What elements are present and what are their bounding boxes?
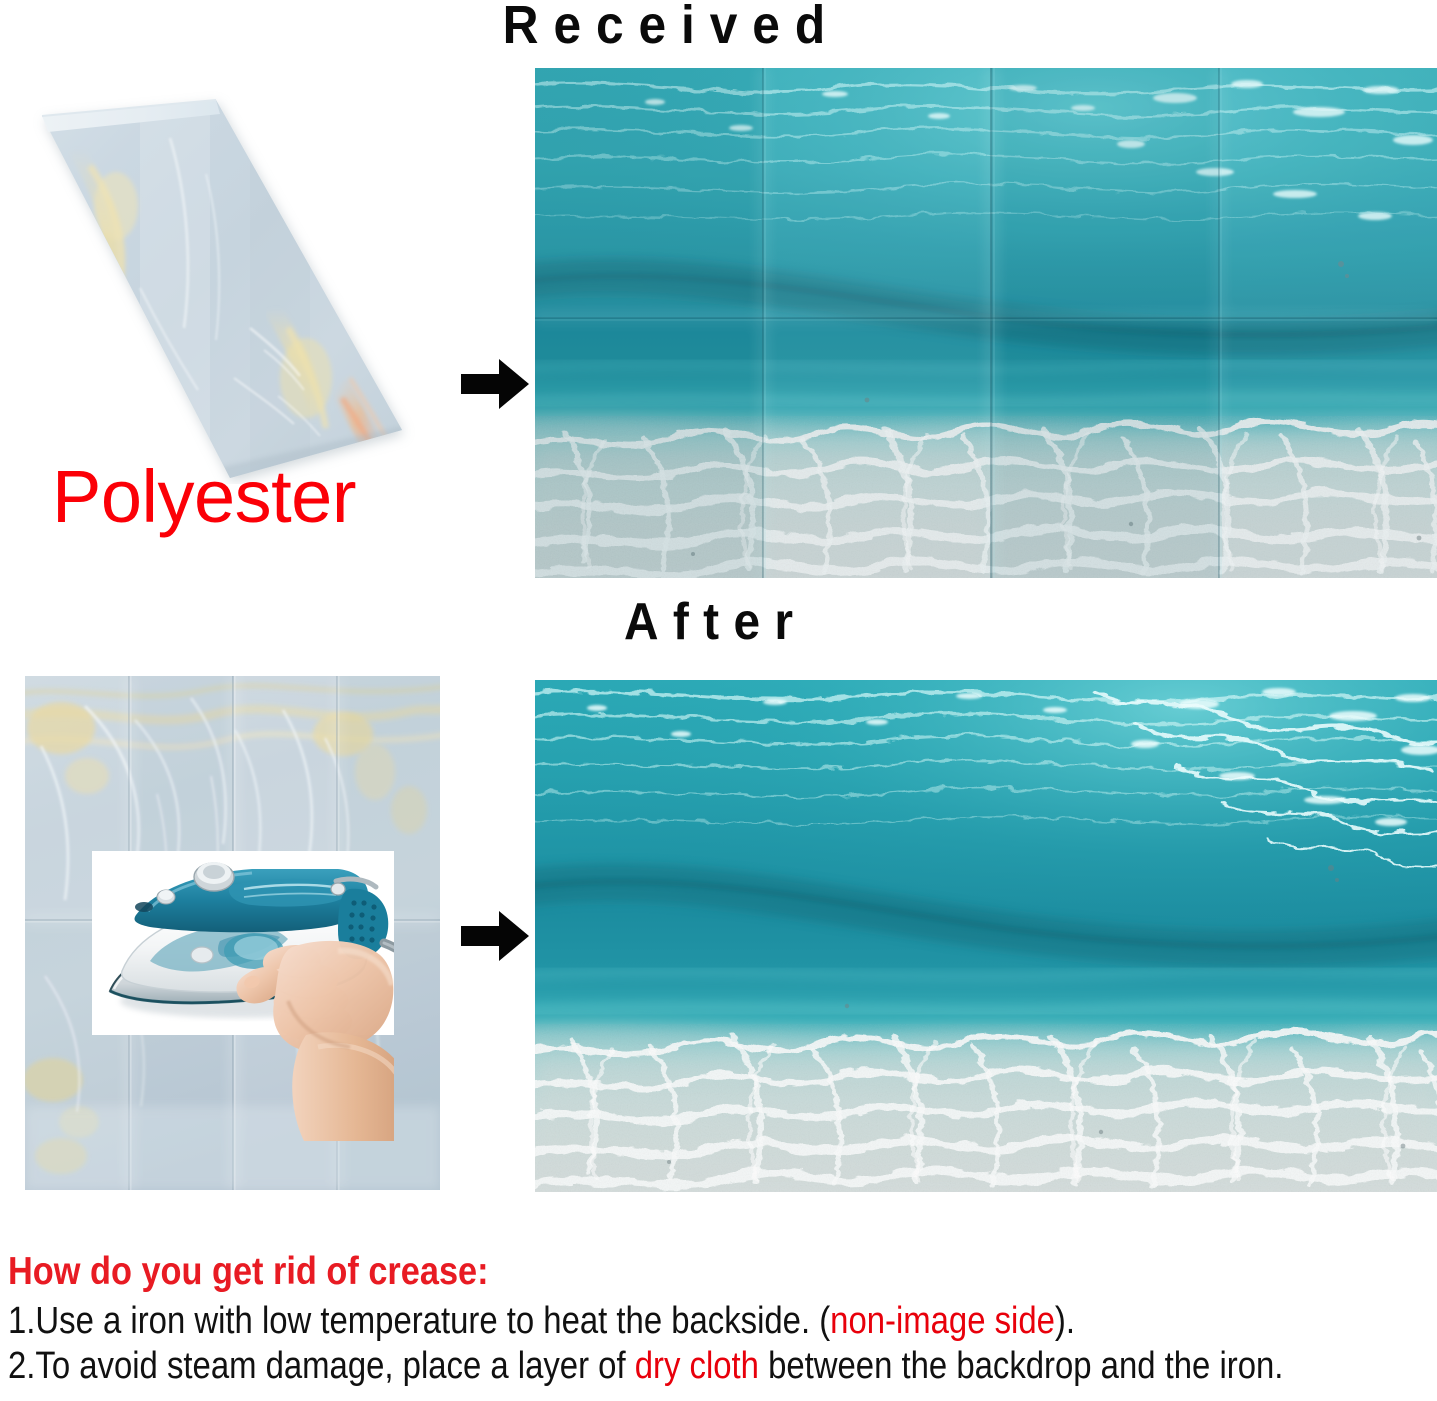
received-backdrop-photo <box>535 68 1437 578</box>
instructions-block: How do you get rid of crease: 1.Use a ir… <box>8 1249 1437 1389</box>
after-section-title: After <box>624 592 807 652</box>
right-arrow-icon <box>459 908 531 969</box>
right-arrow-glyph <box>459 908 531 964</box>
instruction-1-prefix: 1.Use a iron with low temperature to hea… <box>8 1300 830 1342</box>
iron-and-hand-svg <box>92 851 394 1141</box>
instruction-line-2: 2.To avoid steam damage, place a layer o… <box>8 1344 1244 1389</box>
folded-fabric-image <box>20 78 420 484</box>
after-backdrop-photo <box>535 680 1437 1192</box>
ironing-demo-image <box>92 851 394 1035</box>
polyester-label: Polyester <box>52 456 356 538</box>
instruction-1-highlight: non-image side <box>830 1300 1055 1342</box>
instruction-line-1: 1.Use a iron with low temperature to hea… <box>8 1299 1244 1344</box>
right-arrow-icon <box>459 356 531 417</box>
received-section-title: Received <box>503 0 840 56</box>
instruction-2-highlight: dry cloth <box>635 1345 759 1387</box>
folded-fabric-svg <box>20 78 420 484</box>
right-arrow-glyph <box>459 356 531 412</box>
instruction-1-suffix: ). <box>1055 1300 1075 1342</box>
instruction-2-suffix: between the backdrop and the iron. <box>759 1345 1283 1387</box>
instruction-2-prefix: 2.To avoid steam damage, place a layer o… <box>8 1345 635 1387</box>
instructions-heading: How do you get rid of crease: <box>8 1249 1266 1295</box>
after-backdrop-svg <box>535 680 1437 1192</box>
received-backdrop-svg <box>535 68 1437 578</box>
